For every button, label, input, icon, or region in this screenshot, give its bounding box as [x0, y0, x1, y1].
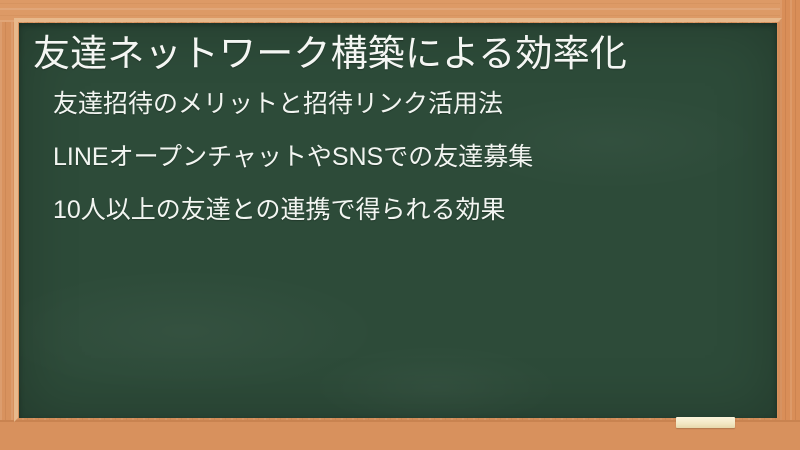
slide-bullet-list: 友達招待のメリットと招待リンク活用法 LINEオープンチャットやSNSでの友達募…: [33, 92, 763, 223]
list-item: LINEオープンチャットやSNSでの友達募集: [53, 145, 763, 170]
list-item: 友達招待のメリットと招待リンク活用法: [53, 92, 763, 117]
list-item: 10人以上の友達との連携で得られる効果: [53, 198, 763, 223]
frame-right-rail: [780, 0, 800, 450]
slide-canvas: 友達ネットワーク構築による効率化 友達招待のメリットと招待リンク活用法 LINE…: [0, 0, 800, 450]
slide-title: 友達ネットワーク構築による効率化: [33, 31, 763, 76]
chalk-stick-icon: [676, 417, 735, 428]
blackboard-surface: 友達ネットワーク構築による効率化 友達招待のメリットと招待リンク活用法 LINE…: [19, 23, 777, 418]
blackboard-content: 友達ネットワーク構築による効率化 友達招待のメリットと招待リンク活用法 LINE…: [19, 23, 777, 223]
